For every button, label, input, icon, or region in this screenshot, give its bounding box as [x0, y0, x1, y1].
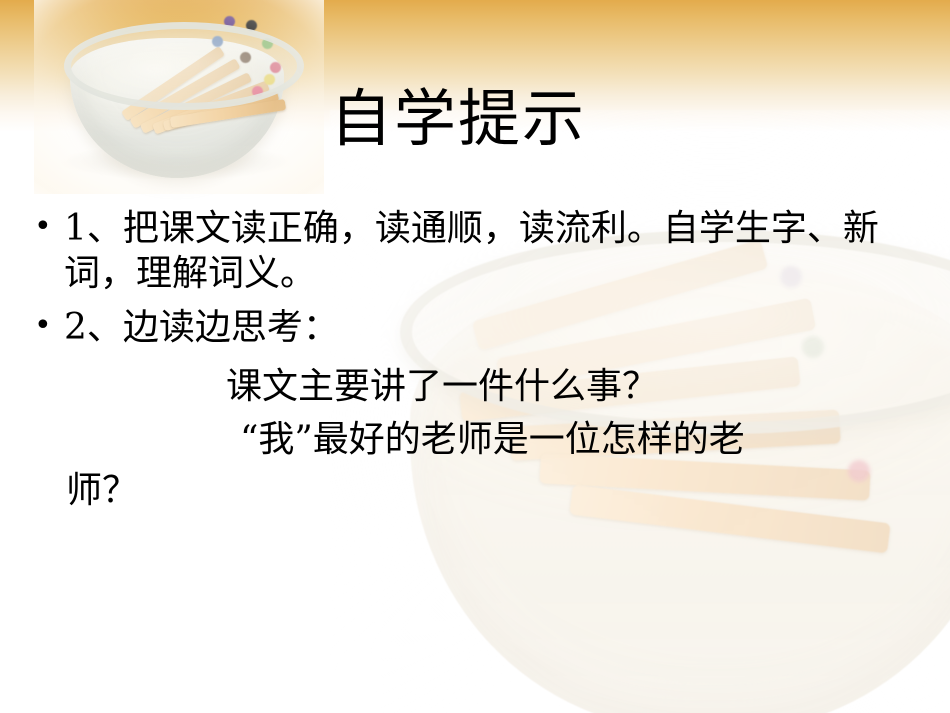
- slide-body: • 1、把课文读正确，读通顺，读流利。自学生字、新词，理解词义。 • 2、边读边…: [34, 206, 934, 514]
- bullet-item-2: • 2、边读边思考：: [34, 305, 934, 350]
- thumbnail-edge-fade: [34, 0, 324, 194]
- bullet-item-1-text: 1、把课文读正确，读通顺，读流利。自学生字、新词，理解词义。: [64, 206, 934, 297]
- sub-question-1: 课文主要讲了一件什么事？: [34, 364, 934, 411]
- pencil-bowl-thumbnail-image: [34, 0, 324, 194]
- sub-question-2-part-2: 师？: [34, 468, 934, 515]
- slide-title: 自学提示: [330, 88, 586, 150]
- bullet-dot-icon: •: [34, 305, 64, 348]
- slide-canvas: 自学提示 • 1、把课文读正确，读通顺，读流利。自学生字、新词，理解词义。 • …: [0, 0, 950, 713]
- bullet-item-1: • 1、把课文读正确，读通顺，读流利。自学生字、新词，理解词义。: [34, 206, 934, 297]
- sub-question-2-part-1: “我”最好的老师是一位怎样的老: [34, 417, 934, 464]
- bullet-item-2-text: 2、边读边思考：: [64, 305, 934, 350]
- bullet-dot-icon: •: [34, 206, 64, 249]
